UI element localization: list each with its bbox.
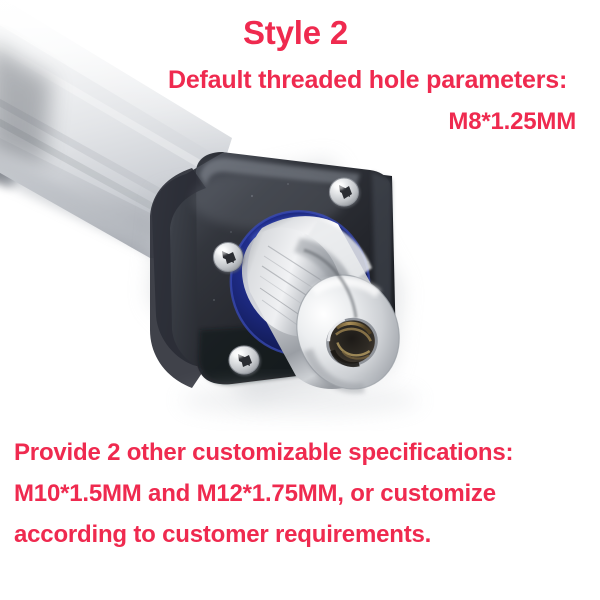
page-title: Style 2 [243,14,348,52]
customization-note-line-3: according to customer requirements. [14,514,584,555]
screw-left [214,243,245,274]
default-params-label: Default threaded hole parameters: [168,65,567,95]
ground-shadow [180,386,420,414]
screw-top-right [330,178,361,208]
default-spec-value: M8*1.25MM [448,107,576,136]
screw-bottom [229,346,261,376]
customization-note-line-1: Provide 2 other customizable specificati… [14,432,584,473]
customization-note-line-2: M10*1.5MM and M12*1.75MM, or customize [14,473,584,514]
screenshot-canvas: Style 2 Default threaded hole parameters… [0,0,600,600]
customization-note: Provide 2 other customizable specificati… [14,432,584,555]
